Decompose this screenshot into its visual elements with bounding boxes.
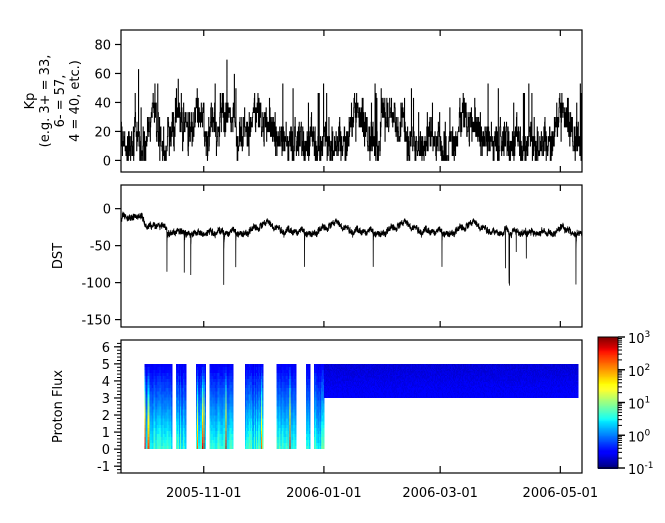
dst-panel-frame <box>121 185 582 327</box>
figure-canvas: 020406080Kp(e.g. 3+ = 33,6- = 57,4 = 40,… <box>0 0 665 523</box>
colorbar-tick-label: 10-1 <box>628 461 654 478</box>
pf-ytick-label: 6 <box>102 341 110 356</box>
dst-data-trace <box>121 212 582 286</box>
pf-xtick-label: 2005-11-01 <box>166 486 242 501</box>
colorbar-tick-label: 102 <box>628 363 650 380</box>
pf-xtick-label: 2006-03-01 <box>402 486 478 501</box>
dst-ytick-label: -50 <box>90 240 111 255</box>
dst-ytick-label: -100 <box>81 277 111 292</box>
kp-ytick-label: 20 <box>94 125 111 140</box>
colorbar-tick-label: 103 <box>628 330 650 347</box>
pf-ytick-label: 4 <box>102 375 110 390</box>
colorbar <box>598 337 618 469</box>
dst-ytick-label: 0 <box>103 203 111 218</box>
kp-ytick-label: 40 <box>94 96 111 111</box>
pf-axis-label: Proton Flux <box>51 370 66 443</box>
kp-data-trace <box>121 60 582 160</box>
kp-ytick-label: 60 <box>94 67 111 82</box>
kp-ytick-label: 0 <box>103 154 111 169</box>
pf-ytick-label: -1 <box>97 460 110 475</box>
scientific-plot-svg: 020406080Kp(e.g. 3+ = 33,6- = 57,4 = 40,… <box>0 0 665 523</box>
kp-axis-label: 4 = 40, etc.) <box>68 60 83 142</box>
pf-ytick-label: 1 <box>102 426 110 441</box>
pf-xtick-label: 2006-01-01 <box>286 486 362 501</box>
kp-axis-label: (e.g. 3+ = 33, <box>38 55 53 148</box>
kp-ytick-label: 80 <box>94 38 111 53</box>
pf-ytick-label: 0 <box>102 443 110 458</box>
colorbar-tick-label: 101 <box>628 396 650 413</box>
colorbar-tick-label: 100 <box>628 428 651 445</box>
proton-flux-panel-frame <box>121 340 582 473</box>
pf-ytick-label: 3 <box>102 392 110 407</box>
dst-axis-label: DST <box>51 243 66 269</box>
kp-axis-label: Kp <box>23 93 38 110</box>
pf-ytick-label: 5 <box>102 358 110 373</box>
dst-ytick-label: -150 <box>81 314 111 329</box>
kp-axis-label: 6- = 57, <box>53 75 68 128</box>
pf-heatmap <box>145 364 579 449</box>
pf-xtick-label: 2006-05-01 <box>523 486 599 501</box>
pf-ytick-label: 2 <box>102 409 110 424</box>
